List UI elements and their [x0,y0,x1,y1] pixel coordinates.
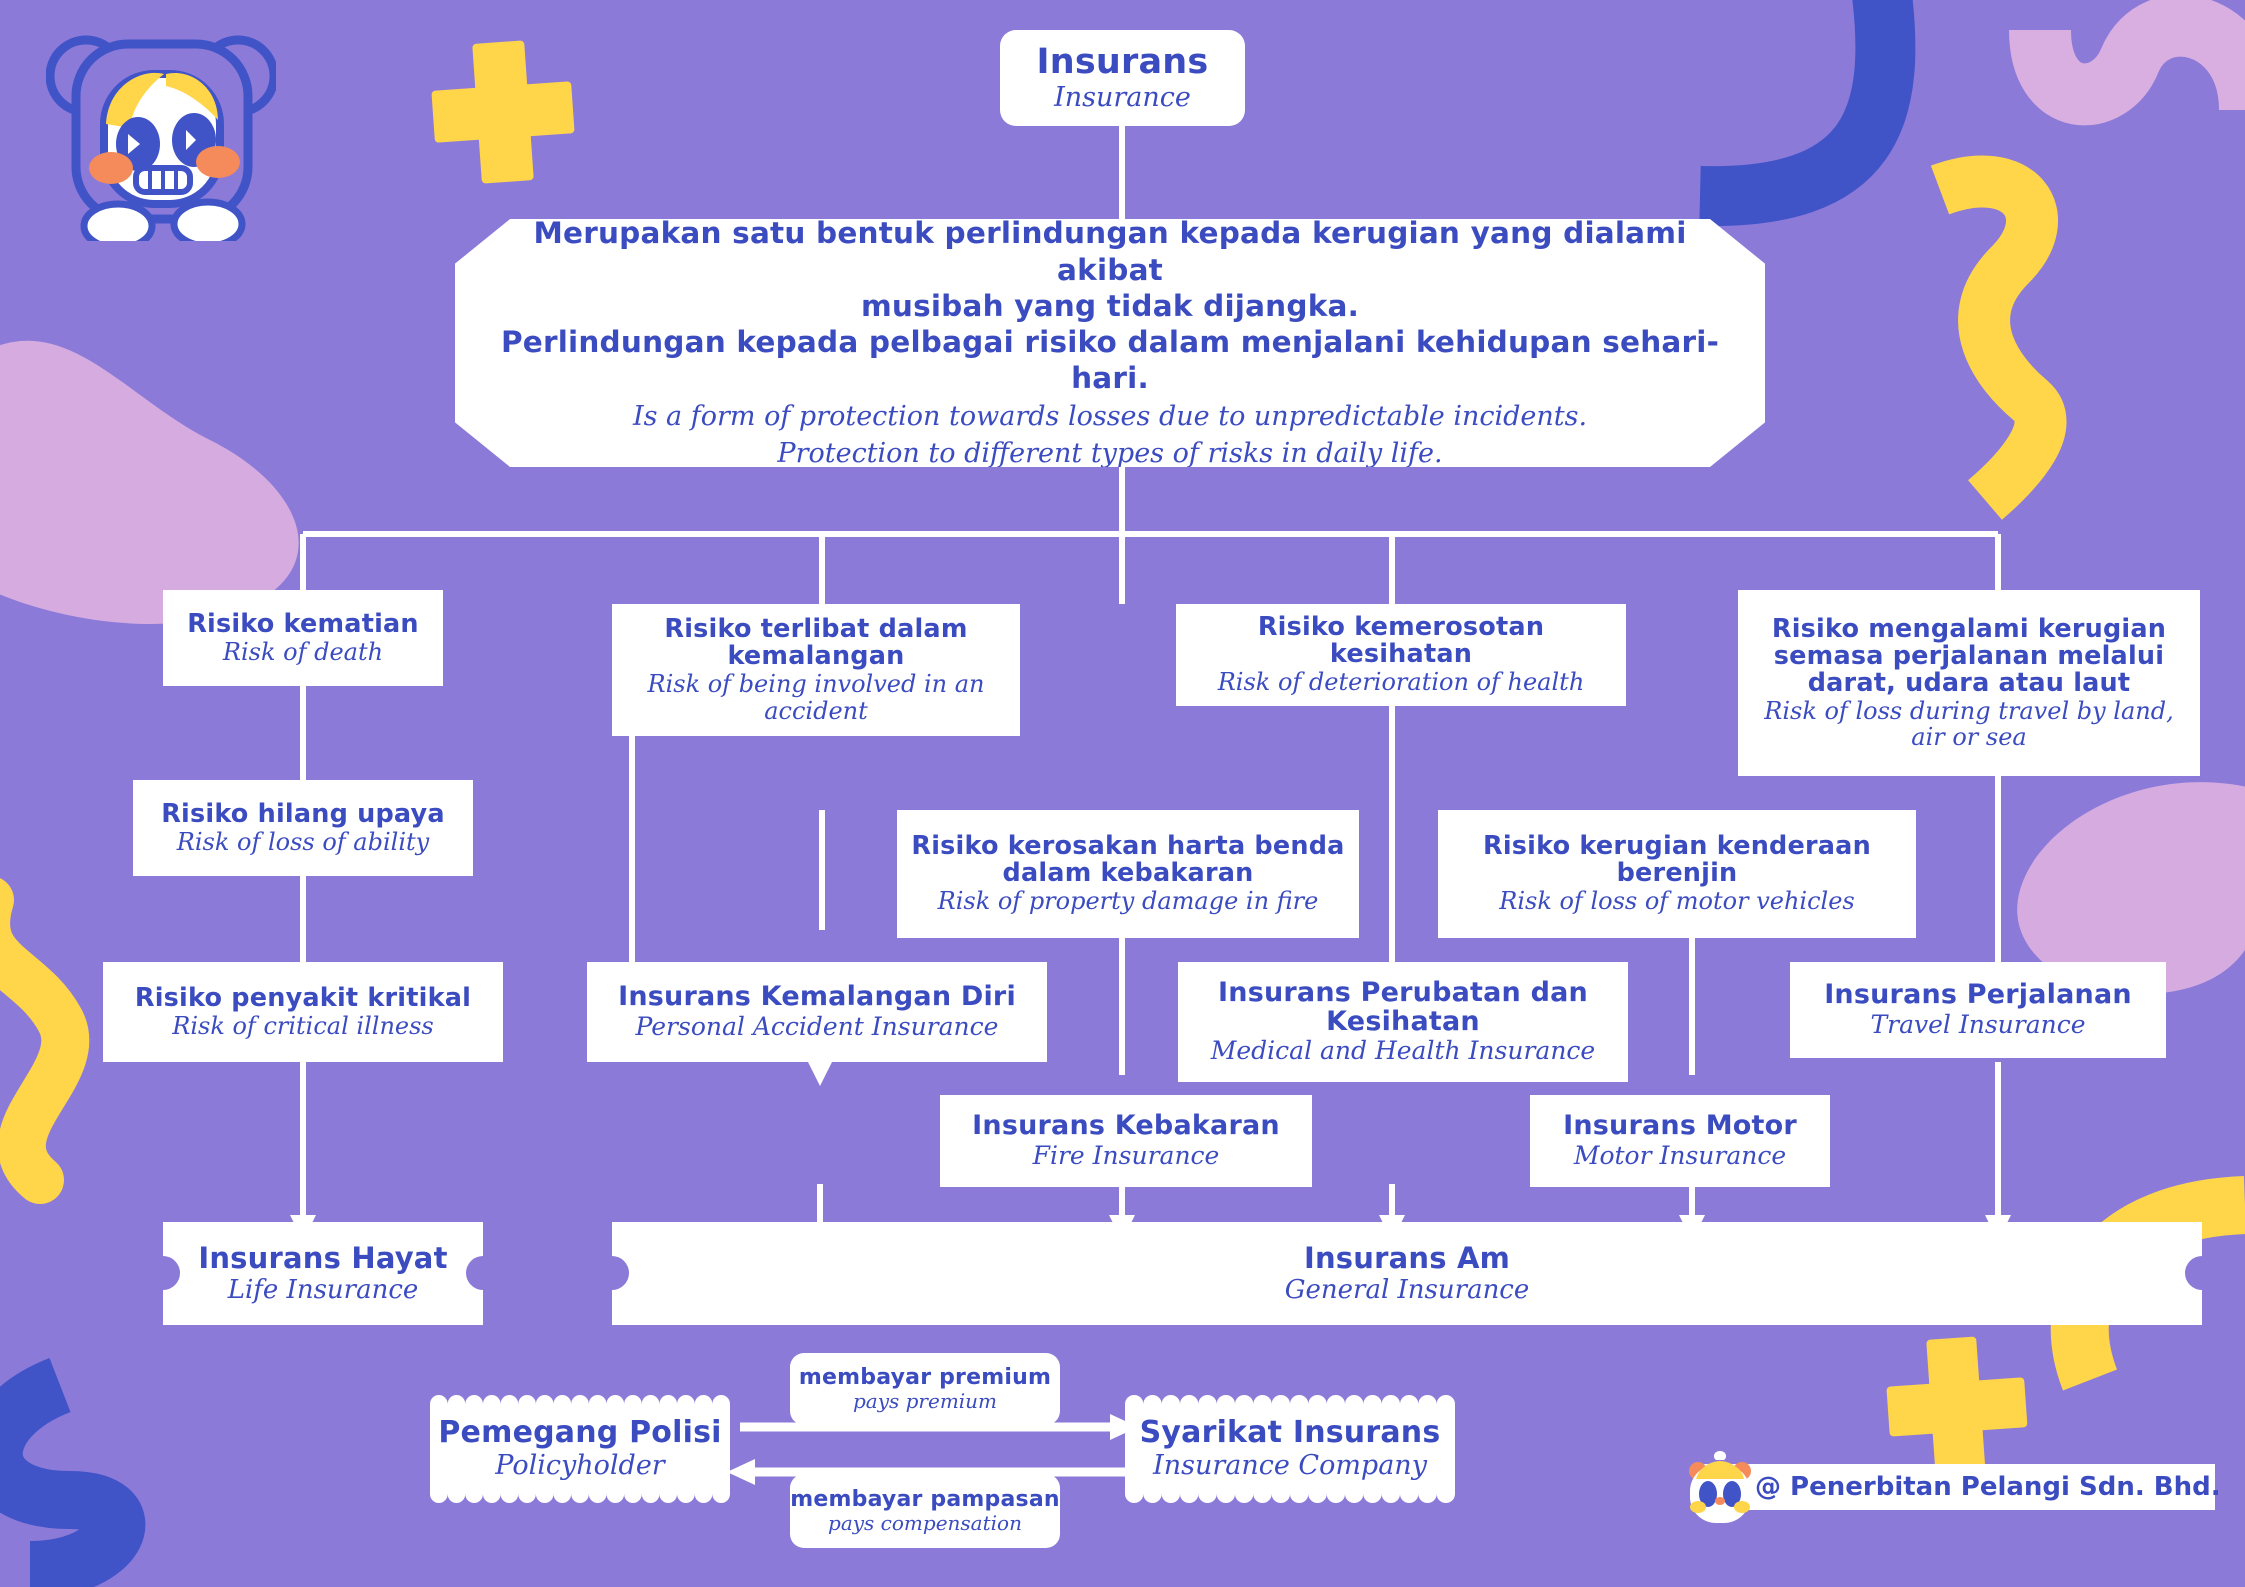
definition-ms-line2: musibah yang tidak dijangka. [861,288,1359,324]
mascot-character [46,16,276,241]
compensation-ms: membayar pampasan [790,1488,1060,1511]
ribbon-notch-right [466,1256,500,1290]
risk-ms: Risiko kerugian kenderaan berenjin [1452,833,1902,887]
insurance-card-travel: Insurans Perjalanan Travel Insurance [1790,962,2166,1058]
risk-card-motor: Risiko kerugian kenderaan berenjin Risk … [1438,810,1916,938]
insurance-ms: Insurans Perubatan dan Kesihatan [1192,979,1614,1036]
risk-card-death: Risiko kematian Risk of death [163,590,443,686]
insurance-card-fire: Insurans Kebakaran Fire Insurance [940,1095,1312,1187]
risk-ms: Risiko kematian [187,611,419,638]
risk-en: Risk of loss of motor vehicles [1499,888,1854,914]
policyholder-en: Policyholder [495,1451,664,1481]
infographic-canvas: Insurans Insurance Merupakan satu bentuk… [0,0,2245,1587]
risk-card-fire: Risiko kerosakan harta benda dalam kebak… [897,810,1359,938]
company-ms: Syarikat Insurans [1140,1417,1441,1449]
category-ms: Insurans Am [1304,1243,1510,1274]
insurance-ms: Insurans Kebakaran [972,1112,1280,1141]
premium-en: pays premium [853,1390,997,1412]
risk-ms: Risiko penyakit kritikal [135,985,471,1012]
insurance-en: Travel Insurance [1870,1011,2085,1039]
publisher-credit-bar: @ Penerbitan Pelangi Sdn. Bhd. [1695,1464,2215,1510]
insurance-card-personal-accident: Insurans Kemalangan Diri Personal Accide… [587,962,1047,1062]
premium-ms: membayar premium [799,1366,1051,1389]
category-ms: Insurans Hayat [198,1243,447,1274]
insurance-card-medical-health: Insurans Perubatan dan Kesihatan Medical… [1178,962,1628,1082]
insurance-en: Personal Accident Insurance [636,1013,999,1041]
definition-box: Merupakan satu bentuk perlindungan kepad… [455,219,1765,467]
risk-ms: Risiko mengalami kerugian semasa perjala… [1752,616,2186,697]
risk-en: Risk of critical illness [172,1013,433,1039]
category-en: General Insurance [1285,1276,1530,1305]
category-banner-life: Insurans Hayat Life Insurance [163,1222,483,1325]
definition-en-line2: Protection to different types of risks i… [777,438,1442,471]
policyholder-box: Pemegang Polisi Policyholder [430,1395,730,1503]
ribbon-notch-right [2185,1256,2219,1290]
title-en: Insurance [1054,83,1191,113]
category-banner-general: Insurans Am General Insurance [612,1222,2202,1325]
premium-label: membayar premium pays premium [790,1353,1060,1425]
company-en: Insurance Company [1153,1451,1427,1481]
insurance-ms: Insurans Perjalanan [1824,981,2132,1010]
risk-en: Risk of deterioration of health [1218,669,1585,695]
insurance-en: Medical and Health Insurance [1211,1037,1595,1065]
policyholder-ms: Pemegang Polisi [438,1417,721,1449]
compensation-label: membayar pampasan pays compensation [790,1474,1060,1548]
insurance-en: Fire Insurance [1033,1142,1220,1170]
definition-en-line1: Is a form of protection towards losses d… [633,401,1587,434]
risk-card-health: Risiko kemerosotan kesihatan Risk of det… [1176,604,1626,706]
insurance-ms: Insurans Kemalangan Diri [618,983,1016,1012]
risk-card-critical-illness: Risiko penyakit kritikal Risk of critica… [103,962,503,1062]
publisher-mascot-icon [1680,1449,1760,1529]
definition-ms-line1: Merupakan satu bentuk perlindungan kepad… [485,215,1735,288]
risk-en: Risk of being involved in an accident [626,671,1006,724]
risk-en: Risk of loss during travel by land, air … [1752,698,2186,751]
compensation-en: pays compensation [828,1512,1022,1534]
risk-ms: Risiko kerosakan harta benda dalam kebak… [911,833,1345,887]
risk-card-loss-ability: Risiko hilang upaya Risk of loss of abil… [133,780,473,876]
publisher-credit-text: @ Penerbitan Pelangi Sdn. Bhd. [1755,1472,2221,1502]
risk-ms: Risiko hilang upaya [161,801,445,828]
insurance-company-box: Syarikat Insurans Insurance Company [1125,1395,1455,1503]
page-title: Insurans Insurance [1000,30,1245,126]
risk-ms: Risiko terlibat dalam kemalangan [626,616,1006,670]
insurance-en: Motor Insurance [1574,1142,1786,1170]
category-en: Life Insurance [228,1276,419,1305]
insurance-ms: Insurans Motor [1563,1112,1797,1141]
title-ms: Insurans [1037,44,1209,81]
risk-ms: Risiko kemerosotan kesihatan [1190,614,1612,668]
ribbon-notch-left [595,1256,629,1290]
ribbon-notch-left [146,1256,180,1290]
definition-ms-line3: Perlindungan kepada pelbagai risiko dala… [485,324,1735,397]
risk-card-travel: Risiko mengalami kerugian semasa perjala… [1738,590,2200,776]
risk-en: Risk of death [223,639,383,665]
risk-en: Risk of loss of ability [177,829,429,855]
risk-en: Risk of property damage in fire [938,888,1319,914]
insurance-card-motor: Insurans Motor Motor Insurance [1530,1095,1830,1187]
risk-card-accident: Risiko terlibat dalam kemalangan Risk of… [612,604,1020,736]
